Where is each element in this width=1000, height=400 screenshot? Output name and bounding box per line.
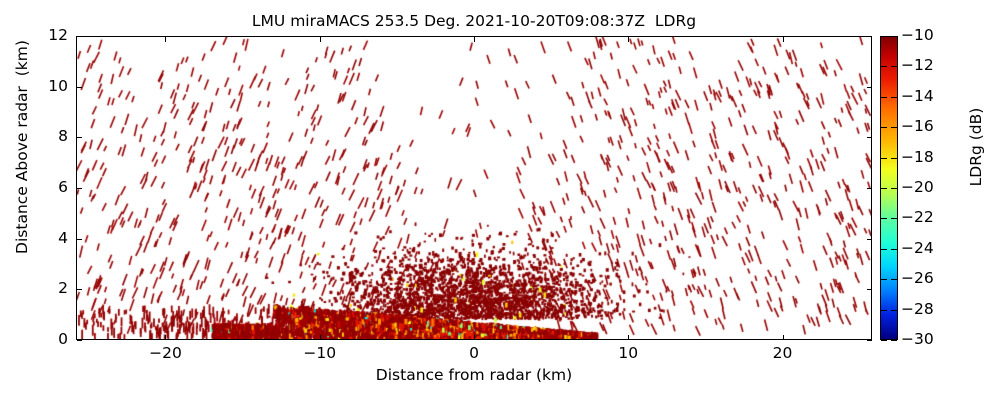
colorbar-tick-label: −10 [901, 26, 934, 44]
y-tick-right [867, 188, 872, 189]
colorbar-tick-label: −26 [901, 269, 934, 287]
colorbar-tick-inner [881, 127, 887, 128]
colorbar-tick-inner [881, 97, 887, 98]
x-tick-top [474, 37, 475, 42]
colorbar-tick-label: −12 [901, 56, 934, 74]
colorbar-tick-label: −30 [901, 330, 934, 348]
colorbar-tick-inner [881, 218, 887, 219]
colorbar-tick [891, 36, 897, 37]
plot-axes[interactable] [76, 36, 872, 340]
x-tick [165, 335, 166, 340]
y-tick [77, 36, 82, 37]
x-tick-label: −10 [285, 344, 355, 362]
x-tick [320, 335, 321, 340]
colorbar-tick-label: −18 [901, 148, 934, 166]
y-tick [77, 188, 82, 189]
y-tick [77, 289, 82, 290]
colorbar-tick-inner [881, 340, 887, 341]
colorbar-tick [891, 127, 897, 128]
colorbar-tick [891, 340, 897, 341]
y-tick-right [867, 137, 872, 138]
colorbar-tick [891, 218, 897, 219]
colorbar-label: LDRg (dB) [967, 0, 985, 299]
colorbar-tick-label: −16 [901, 117, 934, 135]
y-tick [77, 340, 82, 341]
x-tick-label: −20 [130, 344, 200, 362]
colorbar-tick-inner [881, 249, 887, 250]
colorbar-tick-inner [881, 36, 887, 37]
y-tick-right [867, 36, 872, 37]
colorbar-tick-inner [881, 66, 887, 67]
y-tick-right [867, 87, 872, 88]
colorbar-tick-label: −14 [901, 87, 934, 105]
x-tick-label: 0 [439, 344, 509, 362]
x-tick [628, 335, 629, 340]
colorbar-tick-label: −22 [901, 208, 934, 226]
radar-rhi-figure: LMU miraMACS 253.5 Deg. 2021-10-20T09:08… [0, 0, 1000, 400]
y-tick-right [867, 340, 872, 341]
colorbar-tick [891, 279, 897, 280]
y-tick [77, 137, 82, 138]
x-tick-top [628, 37, 629, 42]
colorbar-tick [891, 249, 897, 250]
y-tick [77, 87, 82, 88]
x-tick [783, 335, 784, 340]
page-title: LMU miraMACS 253.5 Deg. 2021-10-20T09:08… [76, 11, 872, 31]
y-tick-label: 0 [10, 330, 68, 348]
x-tick [474, 335, 475, 340]
y-tick-right [867, 289, 872, 290]
colorbar-tick-inner [881, 188, 887, 189]
y-tick [77, 239, 82, 240]
y-axis-label: Distance Above radar (km) [13, 0, 31, 299]
x-tick-top [320, 37, 321, 42]
colorbar-tick [891, 158, 897, 159]
x-tick-label: 10 [593, 344, 663, 362]
x-axis-label: Distance from radar (km) [76, 366, 872, 384]
x-tick-top [783, 37, 784, 42]
x-tick-label: 20 [748, 344, 818, 362]
y-tick-right [867, 239, 872, 240]
colorbar-tick-inner [881, 310, 887, 311]
colorbar-tick [891, 66, 897, 67]
colorbar-tick-label: −28 [901, 300, 934, 318]
colorbar-tick [891, 310, 897, 311]
x-tick-top [165, 37, 166, 42]
colorbar-tick-label: −20 [901, 178, 934, 196]
colorbar-tick-inner [881, 279, 887, 280]
colorbar-tick-inner [881, 158, 887, 159]
colorbar-tick-label: −24 [901, 239, 934, 257]
scatter-data-canvas [77, 37, 871, 339]
colorbar-tick [891, 188, 897, 189]
colorbar-tick [891, 97, 897, 98]
